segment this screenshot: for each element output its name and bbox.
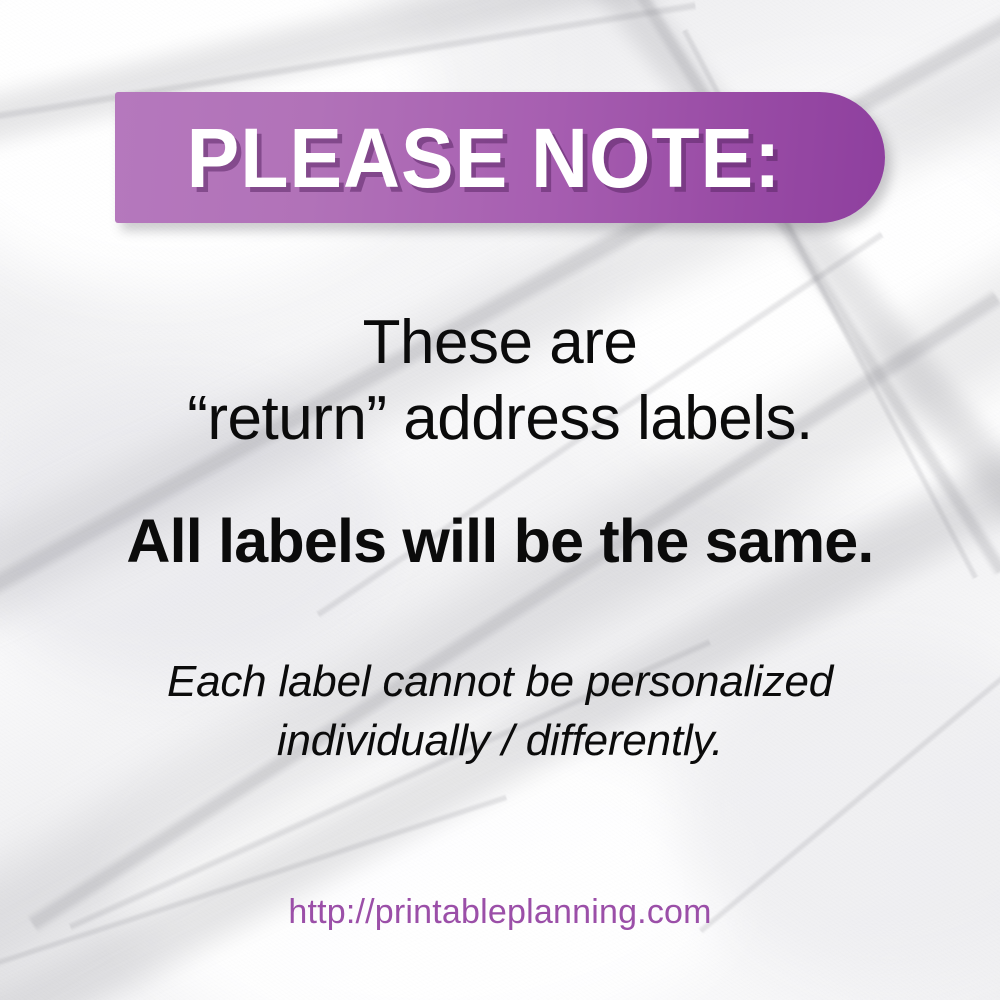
note-line-bold: All labels will be the same. (0, 508, 1000, 575)
site-url[interactable]: http://printableplanning.com (0, 893, 1000, 932)
note-line-italic: Each label cannot be personalized indivi… (0, 652, 1000, 771)
note-graphic: PLEASE NOTE: These are “return” address … (0, 0, 1000, 1000)
please-note-banner: PLEASE NOTE: (115, 92, 885, 223)
banner-title: PLEASE NOTE: (138, 92, 862, 223)
note-line-regular: These are “return” address labels. (0, 305, 1000, 458)
